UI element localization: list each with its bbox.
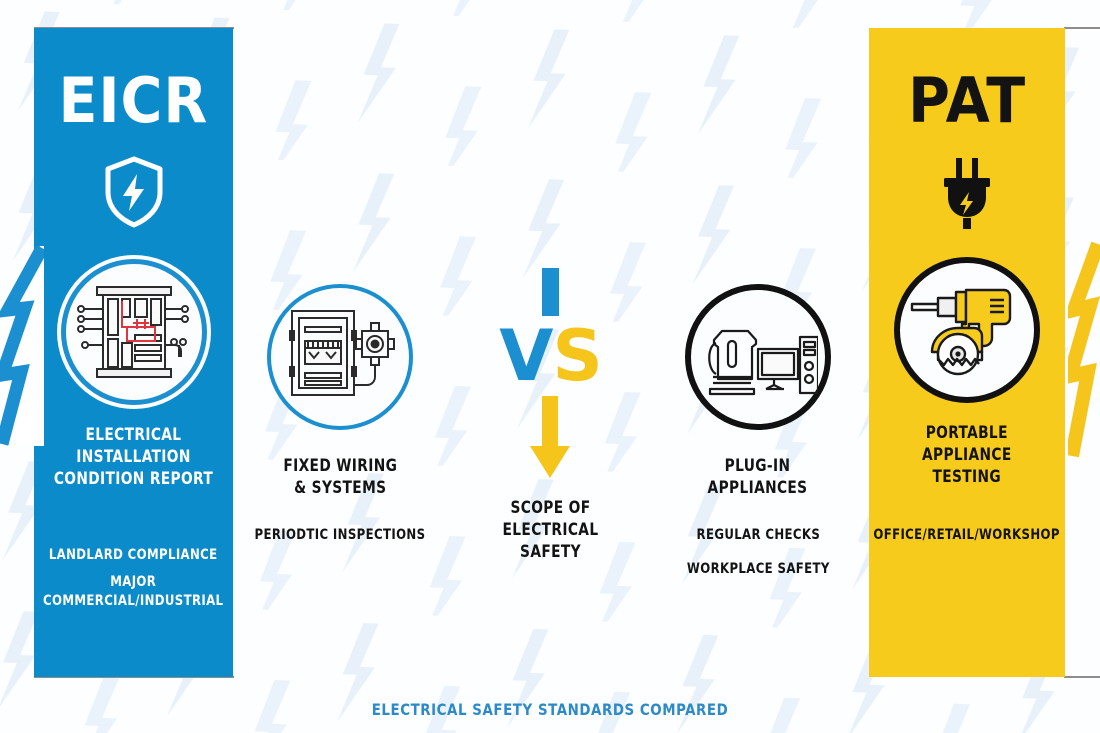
footer-caption: ELECTRICAL SAFETY STANDARDS COMPARED	[39, 700, 1062, 719]
pat-caption-line: APPLIANCE	[922, 445, 1012, 467]
eicr-caption-line: CONDITION REPORT	[54, 469, 213, 491]
consumer-unit-meter-icon	[267, 284, 413, 430]
center-caption-line: SCOPE OF	[472, 498, 630, 520]
eicr-subcaption: LANDLARD COMPLIANCE MAJOR COMMERCIAL/IND…	[43, 546, 223, 611]
eicr-title: EICR	[59, 70, 209, 132]
plug-in-caption: PLUG-IN APPLIANCES	[708, 456, 808, 500]
vs-letter-v: V	[499, 315, 552, 397]
column-fixed-wiring: FIXED WIRING & SYSTEMS PERIODTIC INSPECT…	[245, 28, 435, 677]
vertical-bar-icon	[542, 268, 559, 316]
column-plug-in: PLUG-IN APPLIANCES REGULAR CHECKS WORKPL…	[660, 28, 856, 677]
fixed-wiring-badge	[267, 284, 413, 430]
infographic-canvas: EICR	[0, 0, 1100, 733]
kettle-monitor-pc-icon	[685, 284, 831, 430]
fixed-wiring-subcaption-line: PERIODTIC INSPECTIONS	[255, 526, 426, 545]
center-caption: SCOPE OF ELECTRICAL SAFETY	[472, 498, 630, 563]
pat-caption-line: TESTING	[922, 467, 1012, 489]
eicr-caption-line: ELECTRICAL	[54, 425, 213, 447]
center-caption-line: ELECTRICAL SAFETY	[472, 520, 630, 564]
shield-bolt-icon	[103, 156, 165, 233]
eicr-subcaption-line: LANDLARD COMPLIANCE	[43, 546, 223, 565]
vs-block: VS	[499, 268, 602, 482]
pat-subcaption: OFFICE/RETAIL/WORKSHOP	[874, 526, 1060, 545]
plug-in-subcaption-line: REGULAR CHECKS	[687, 526, 830, 545]
vs-letter-s: S	[552, 315, 601, 397]
plug-in-subcaption-line: WORKPLACE SAFETY	[687, 560, 830, 579]
drill-circular-saw-icon	[894, 257, 1040, 403]
eicr-badge	[61, 259, 207, 405]
plug-in-badge	[685, 284, 831, 430]
plug-in-caption-line: APPLIANCES	[708, 478, 808, 500]
column-center-vs: VS SCOPE OF ELECTRICAL SAFETY	[463, 28, 638, 677]
pat-subcaption-line: OFFICE/RETAIL/WORKSHOP	[874, 526, 1060, 545]
fixed-wiring-subcaption: PERIODTIC INSPECTIONS	[255, 526, 426, 545]
bottom-right-rule	[1064, 676, 1100, 678]
column-pat: PAT	[869, 28, 1065, 677]
column-eicr: EICR	[34, 28, 233, 677]
fixed-wiring-caption: FIXED WIRING & SYSTEMS	[283, 456, 397, 500]
pat-caption-line: PORTABLE	[922, 423, 1012, 445]
pat-badge	[894, 257, 1040, 403]
eicr-caption: ELECTRICAL INSTALLATION CONDITION REPORT	[54, 425, 213, 490]
plug-in-subcaption: REGULAR CHECKS WORKPLACE SAFETY	[687, 526, 830, 580]
eicr-subcaption-line: MAJOR COMMERCIAL/INDUSTRIAL	[43, 573, 223, 611]
distribution-board-icon	[61, 259, 207, 405]
fixed-wiring-caption-line: FIXED WIRING	[283, 456, 397, 478]
top-right-rule	[1064, 27, 1100, 29]
eicr-caption-line: INSTALLATION	[54, 447, 213, 469]
plug-in-caption-line: PLUG-IN	[708, 456, 808, 478]
plug-bolt-icon	[936, 156, 998, 235]
down-arrow-icon	[527, 396, 573, 482]
fixed-wiring-caption-line: & SYSTEMS	[283, 478, 397, 500]
vs-label: VS	[499, 324, 602, 388]
lightning-bolt-yellow-icon	[1068, 240, 1100, 460]
pat-title: PAT	[908, 70, 1026, 132]
pat-caption: PORTABLE APPLIANCE TESTING	[922, 423, 1012, 488]
